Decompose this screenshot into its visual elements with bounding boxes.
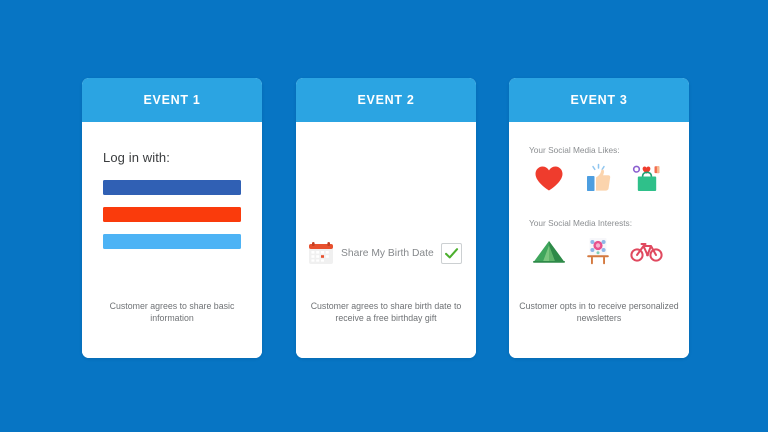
card-body-event-2: Share My Birth Date Customer agrees to s… xyxy=(296,122,476,358)
card-header-event-2: EVENT 2 xyxy=(296,78,476,122)
card-footer-text: Customer opts in to receive personalized… xyxy=(519,301,679,324)
google-login-button[interactable] xyxy=(103,207,241,222)
thumbs-up-icon[interactable] xyxy=(578,162,618,194)
card-title: EVENT 3 xyxy=(571,93,628,107)
calendar-icon xyxy=(308,241,334,265)
twitter-login-button[interactable] xyxy=(103,234,241,249)
event-card-3[interactable]: EVENT 3 Your Social Media Likes: xyxy=(509,78,689,358)
event-card-1[interactable]: EVENT 1 Log in with: Customer agrees to … xyxy=(82,78,262,358)
easel-painting-icon[interactable] xyxy=(578,235,618,267)
card-title: EVENT 1 xyxy=(144,93,201,107)
social-media-likes-icons xyxy=(523,162,675,194)
heart-icon[interactable] xyxy=(529,162,569,194)
birth-date-checkbox[interactable] xyxy=(441,243,462,264)
social-media-likes-label: Your Social Media Likes: xyxy=(529,145,675,155)
social-login-button-stack xyxy=(103,180,241,249)
event-card-2[interactable]: EVENT 2 xyxy=(296,78,476,358)
card-body-event-1: Log in with: Customer agrees to share ba… xyxy=(82,122,262,358)
card-title: EVENT 2 xyxy=(358,93,415,107)
card-header-event-1: EVENT 1 xyxy=(82,78,262,122)
social-media-interests-label: Your Social Media Interests: xyxy=(529,218,675,228)
login-with-label: Log in with: xyxy=(103,150,248,165)
slide-canvas: EVENT 1 Log in with: Customer agrees to … xyxy=(0,0,768,432)
shopping-bag-icon[interactable] xyxy=(627,162,667,194)
social-media-interests-icons xyxy=(523,235,675,267)
card-header-event-3: EVENT 3 xyxy=(509,78,689,122)
checkmark-icon xyxy=(444,246,459,261)
share-birth-date-row[interactable]: Share My Birth Date xyxy=(308,241,462,265)
bicycle-icon[interactable] xyxy=(627,235,667,267)
card-body-event-3: Your Social Media Likes: xyxy=(509,122,689,358)
tent-icon[interactable] xyxy=(529,235,569,267)
share-birth-date-label: Share My Birth Date xyxy=(341,248,434,259)
card-footer-text: Customer agrees to share birth date to r… xyxy=(306,301,466,324)
card-footer-text: Customer agrees to share basic informati… xyxy=(92,301,252,324)
facebook-login-button[interactable] xyxy=(103,180,241,195)
